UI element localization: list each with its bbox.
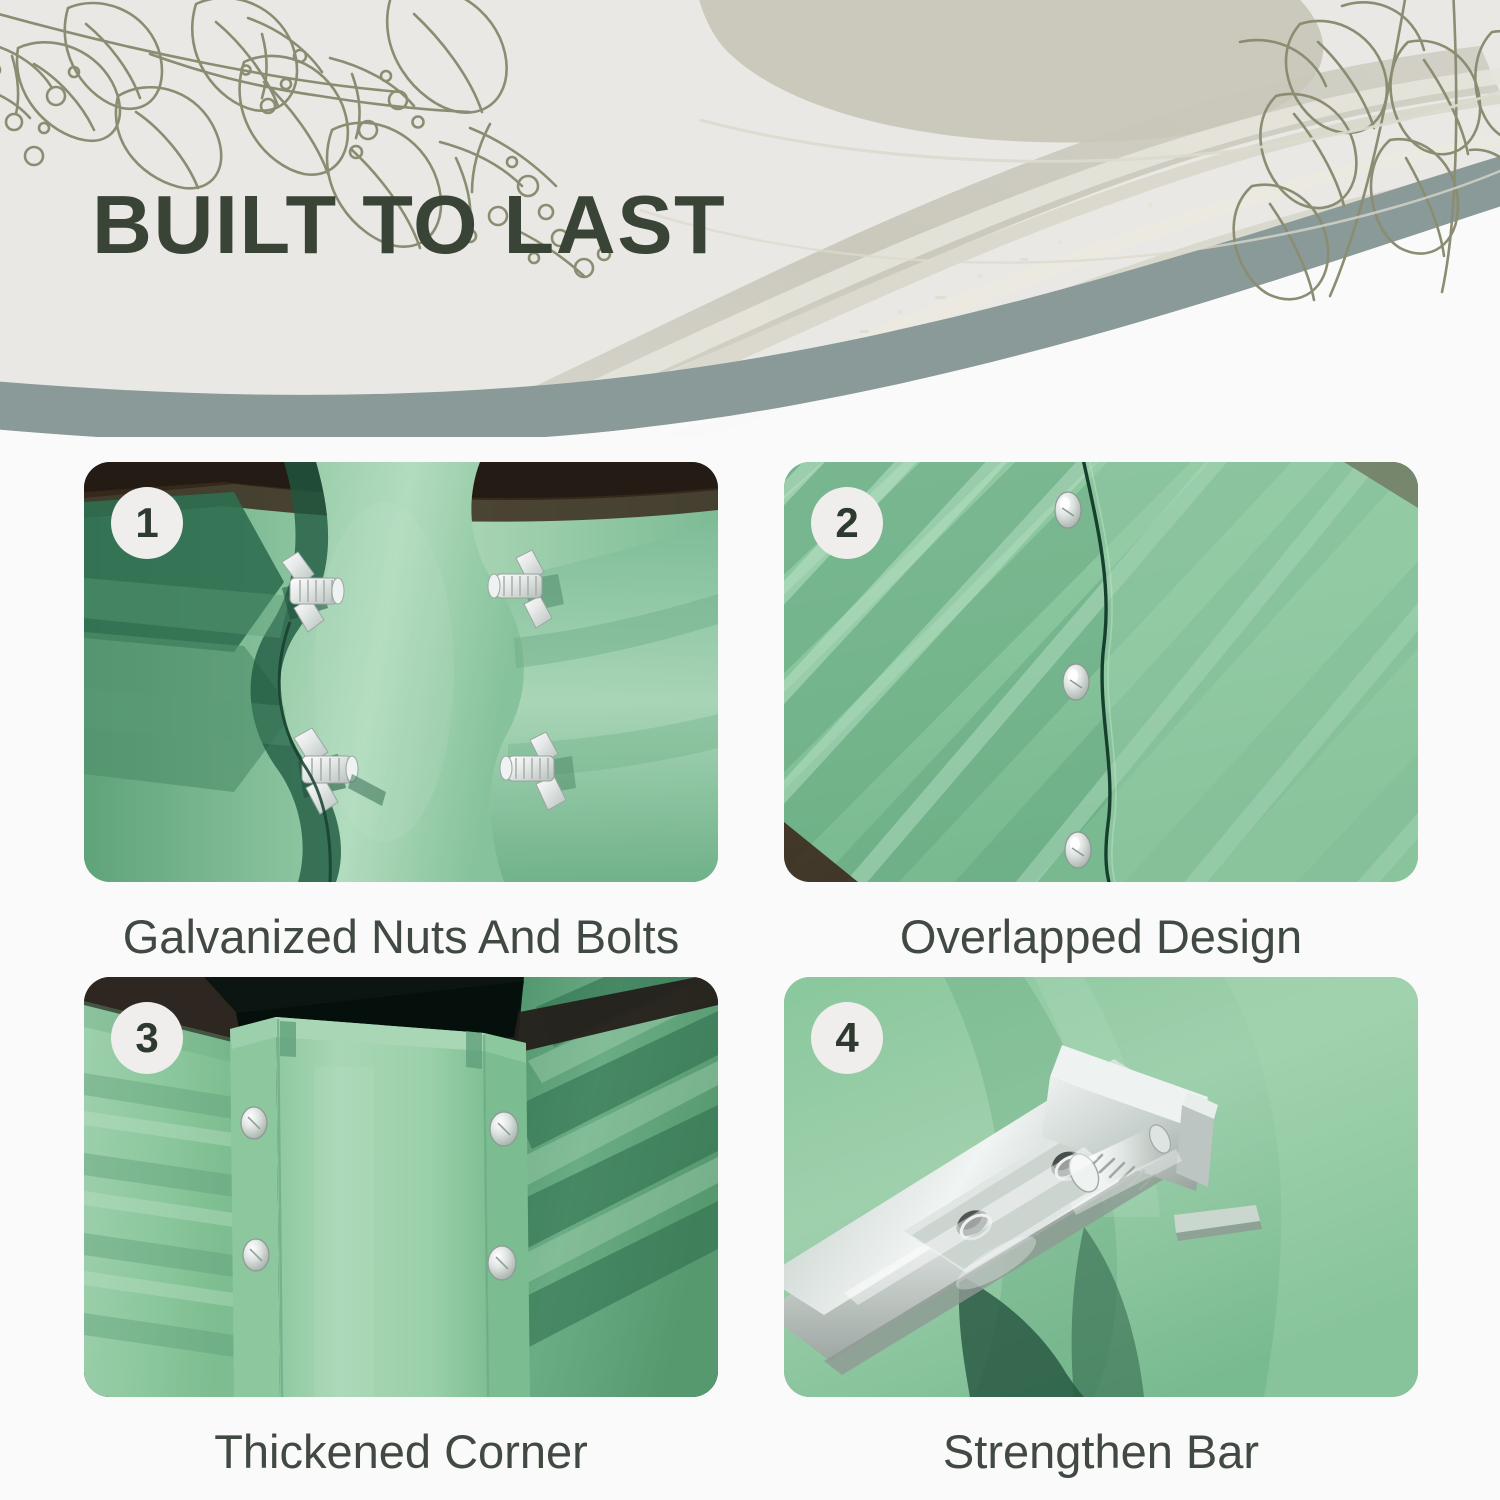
feature-caption-2: Overlapped Design [784, 910, 1418, 964]
feature-photo-2: 2 [784, 462, 1418, 882]
feature-card-3[interactable]: 3 Thickened Corner [84, 977, 718, 1479]
feature-card-4[interactable]: 4 Strengthen Bar [784, 977, 1418, 1479]
feature-grid: 1 Galvanized Nuts And Bolts [0, 437, 1500, 1500]
feature-caption-3: Thickened Corner [84, 1425, 718, 1479]
feature-badge-4: 4 [811, 1002, 883, 1074]
feature-card-1[interactable]: 1 Galvanized Nuts And Bolts [84, 462, 718, 964]
feature-caption-1: Galvanized Nuts And Bolts [84, 910, 718, 964]
header-banner: BUILT TO LAST [0, 0, 1500, 437]
feature-card-2[interactable]: 2 Overlapped Design [784, 462, 1418, 964]
feature-photo-1: 1 [84, 462, 718, 882]
feature-badge-3: 3 [111, 1002, 183, 1074]
page-title: BUILT TO LAST [92, 183, 726, 266]
feature-badge-1: 1 [111, 487, 183, 559]
feature-photo-4: 4 [784, 977, 1418, 1397]
feature-badge-2: 2 [811, 487, 883, 559]
feature-photo-3: 3 [84, 977, 718, 1397]
corner-post [230, 1017, 530, 1397]
feature-caption-4: Strengthen Bar [784, 1425, 1418, 1479]
